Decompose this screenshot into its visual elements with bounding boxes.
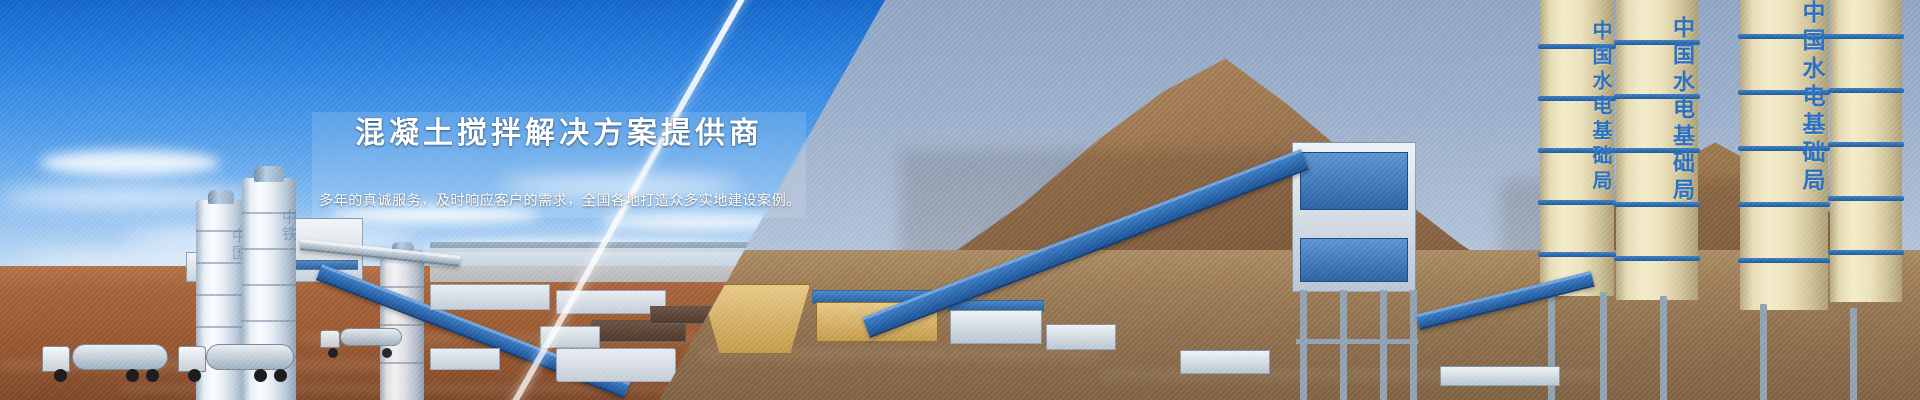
silo-support-leg <box>1850 308 1857 400</box>
tower-support-leg <box>1380 290 1387 400</box>
truck-cab <box>42 346 70 372</box>
silo-band <box>1828 250 1904 255</box>
banner-headline: 混凝土搅拌解决方案提供商 <box>312 108 806 152</box>
silo-cap <box>254 166 284 182</box>
silo-band <box>1828 142 1904 147</box>
silo-band <box>380 362 424 364</box>
silo-label: 中国 <box>196 228 246 262</box>
truck-wheel <box>274 369 287 382</box>
site-building <box>1046 324 1116 350</box>
silo-label: 中国水电基础局 <box>1616 16 1698 205</box>
site-shed <box>540 326 600 348</box>
truck-wheel <box>328 348 338 358</box>
silo-label: 中国水电基础局 <box>1540 20 1614 195</box>
cement-silo: 中国水电基础局 <box>1740 0 1828 310</box>
mixing-tower-panel <box>1300 152 1408 210</box>
mixer-truck <box>178 342 298 382</box>
tower-support-leg <box>1340 290 1347 400</box>
silo-band <box>1538 200 1616 205</box>
truck-wheel <box>188 369 201 382</box>
mixer-truck <box>42 342 172 382</box>
silo-label: 中国水电基础局 <box>1740 0 1828 196</box>
silo-band <box>242 284 296 286</box>
silo-band <box>242 320 296 322</box>
truck-wheel <box>146 369 159 382</box>
cement-silo: 中国水电基础局 <box>1540 0 1614 296</box>
cement-silo <box>380 250 424 400</box>
silo-support-leg <box>1660 296 1667 400</box>
banner-subheadline: 多年的真诚服务，及时响应客户的需求，全国各地打造众多实地建设案例。 <box>270 190 850 210</box>
silo-band <box>1828 196 1904 201</box>
silo-band <box>242 248 296 250</box>
cement-silo: 中国水电基础局 <box>1616 0 1698 300</box>
mixing-tower-panel <box>1300 238 1408 282</box>
site-building <box>950 310 1042 344</box>
mixer-truck <box>320 328 404 358</box>
truck-cab <box>178 346 206 372</box>
silo-label: 中铁 <box>242 209 296 243</box>
stacked-material <box>556 348 676 382</box>
hero-banner: 中国 中铁 <box>0 0 1920 400</box>
silo-band <box>196 294 246 296</box>
truck-cab <box>320 330 340 348</box>
truck-wheel <box>382 348 392 358</box>
truck-wheel <box>54 369 67 382</box>
silo-band <box>1738 258 1830 263</box>
site-shed <box>430 284 550 310</box>
tower-support-leg <box>1300 290 1307 400</box>
silo-band <box>196 262 246 264</box>
site-structure <box>1440 366 1560 386</box>
cloud-icon <box>40 150 220 176</box>
silo-band <box>1828 88 1904 93</box>
tower-support-leg <box>1410 290 1417 400</box>
mixer-drum <box>206 344 294 370</box>
silo-band <box>380 286 424 288</box>
truck-wheel <box>126 369 139 382</box>
silo-band <box>1738 202 1830 207</box>
stacked-material <box>430 348 500 370</box>
mixer-drum <box>72 344 168 370</box>
tower-crossbrace <box>1296 339 1418 344</box>
site-structure <box>1180 350 1270 374</box>
silo-cap <box>208 190 234 204</box>
cement-silo <box>1830 0 1902 302</box>
silo-band <box>1538 252 1616 257</box>
silo-band <box>196 326 246 328</box>
silo-band <box>1828 34 1904 39</box>
silo-support-leg <box>1600 292 1607 400</box>
silo-band <box>380 324 424 326</box>
mixer-drum <box>340 328 402 346</box>
silo-band <box>1614 256 1700 261</box>
silo-support-leg <box>1760 304 1767 400</box>
truck-wheel <box>254 369 267 382</box>
